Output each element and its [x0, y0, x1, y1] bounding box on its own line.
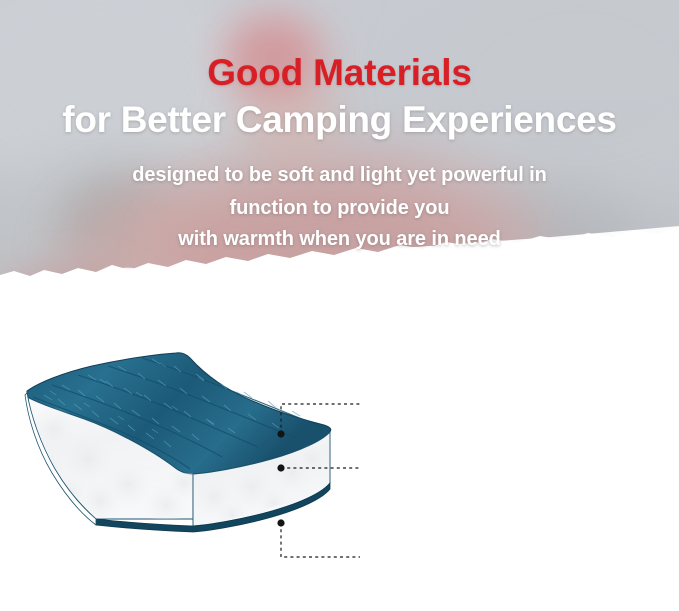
materials-detail-panel: 20D RIPSTOP NYLON COVER Water-repellent,…	[0, 333, 679, 611]
hero-body-line-1: designed to be soft and light yet powerf…	[0, 164, 679, 187]
leader-dot-top	[277, 430, 284, 437]
product-cross-section-diagram	[0, 333, 360, 611]
hero-body-line-2: function to provide you	[0, 197, 679, 220]
hero-title: Good Materials	[0, 52, 679, 94]
hero-body-line-3: with warmth when you are in need	[0, 228, 679, 251]
product-feature-infographic: Good Materials for Better Camping Experi…	[0, 0, 679, 611]
leader-dot-middle	[277, 464, 284, 471]
hero-banner: Good Materials for Better Camping Experi…	[0, 0, 679, 333]
hero-subtitle: for Better Camping Experiences	[0, 99, 679, 141]
leader-dot-bottom	[277, 519, 284, 526]
